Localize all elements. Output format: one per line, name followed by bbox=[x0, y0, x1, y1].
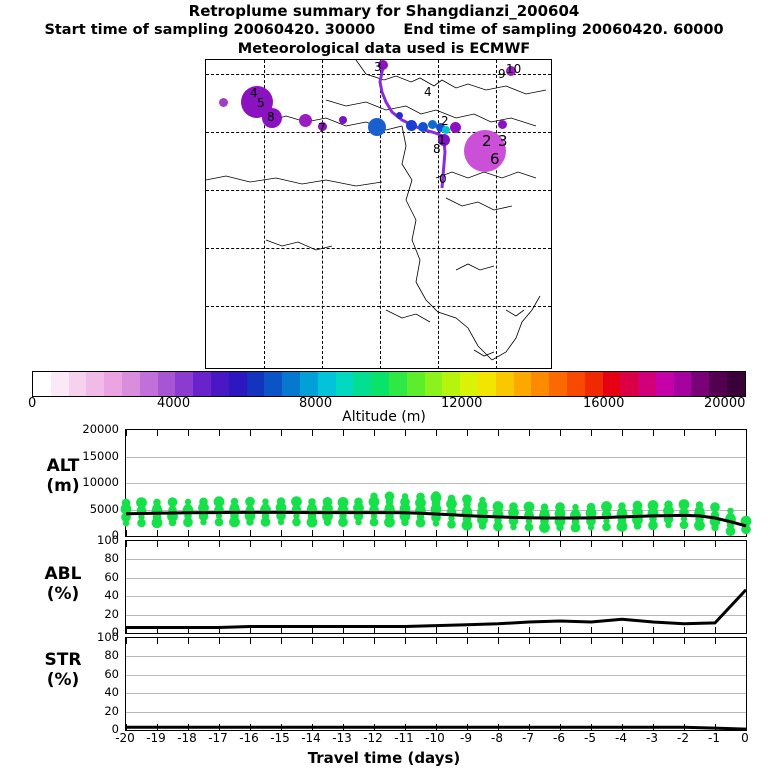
plume-cluster bbox=[219, 98, 228, 107]
plume-cluster bbox=[396, 112, 403, 119]
colorbar-swatch bbox=[442, 372, 460, 396]
cluster-label: 5 bbox=[257, 96, 265, 110]
alt-cluster-marker bbox=[526, 510, 532, 516]
colorbar-swatch bbox=[656, 372, 674, 396]
y-tick-label: 10000 bbox=[79, 475, 119, 489]
cluster-label: 6 bbox=[490, 150, 500, 168]
x-tick-label: -12 bbox=[358, 731, 388, 745]
plume-cluster bbox=[339, 116, 347, 124]
str-label: STR bbox=[45, 650, 82, 670]
series-overlay bbox=[126, 430, 746, 536]
y-tick-label: 40 bbox=[79, 685, 119, 699]
cluster-label: 3 bbox=[374, 60, 382, 74]
alt-cluster-marker bbox=[308, 498, 316, 506]
abl-unit-label: (%) bbox=[47, 584, 80, 604]
plume-cluster bbox=[450, 122, 461, 133]
colorbar-swatch bbox=[33, 372, 51, 396]
x-tick bbox=[746, 430, 747, 436]
x-tick bbox=[746, 724, 747, 730]
alt-cluster-marker bbox=[262, 498, 268, 504]
alt-cluster-marker bbox=[493, 501, 504, 512]
plume-cluster bbox=[418, 122, 428, 132]
y-tick-label: 100 bbox=[79, 630, 119, 644]
abl-plot bbox=[125, 540, 747, 634]
cluster-label: 4 bbox=[424, 85, 432, 99]
x-tick bbox=[746, 638, 747, 644]
alt-cluster-marker bbox=[229, 505, 240, 516]
plume-cluster bbox=[368, 118, 386, 136]
colorbar-swatch bbox=[86, 372, 104, 396]
colorbar-swatch bbox=[567, 372, 585, 396]
alt-cluster-marker bbox=[185, 499, 191, 505]
alt-cluster-marker bbox=[572, 504, 578, 510]
x-tick-label: -4 bbox=[606, 731, 636, 745]
colorbar-swatch bbox=[336, 372, 354, 396]
alt-cluster-marker bbox=[633, 502, 642, 511]
str-line bbox=[126, 727, 746, 729]
colorbar-swatch bbox=[122, 372, 140, 396]
cluster-label: 2 bbox=[482, 132, 492, 150]
cluster-label: 8 bbox=[433, 142, 441, 156]
colorbar-swatch bbox=[549, 372, 567, 396]
cluster-label: 0 bbox=[439, 172, 447, 186]
cluster-label: 7 bbox=[318, 121, 326, 135]
page-title: Retroplume summary for Shangdianzi_20060… bbox=[0, 2, 768, 21]
alt-cluster-marker bbox=[416, 492, 425, 501]
colorbar-swatch bbox=[638, 372, 656, 396]
alt-cluster-marker bbox=[168, 497, 178, 507]
alt-cluster-marker bbox=[152, 506, 163, 517]
y-tick-label: 20000 bbox=[79, 422, 119, 436]
colorbar-swatch bbox=[585, 372, 603, 396]
alt-cluster-marker bbox=[385, 491, 395, 501]
alt-cluster-marker bbox=[307, 505, 318, 516]
x-tick-label: -9 bbox=[451, 731, 481, 745]
alt-cluster-marker bbox=[648, 500, 659, 511]
colorbar-swatch bbox=[193, 372, 211, 396]
colorbar-swatch bbox=[282, 372, 300, 396]
alt-cluster-marker bbox=[619, 503, 625, 509]
alt-cluster-marker bbox=[262, 504, 270, 512]
alt-cluster-marker bbox=[727, 508, 733, 514]
alt-cluster-marker bbox=[122, 499, 131, 508]
alt-cluster-marker bbox=[479, 497, 485, 503]
x-tick-label: -19 bbox=[141, 731, 171, 745]
alt-plot bbox=[125, 429, 747, 537]
colorbar-swatch bbox=[264, 372, 282, 396]
y-tick-label: 5000 bbox=[79, 502, 119, 516]
colorbar-swatch bbox=[353, 372, 371, 396]
x-axis-title: Travel time (days) bbox=[0, 749, 768, 767]
abl-line bbox=[126, 590, 746, 628]
y-tick-label: 80 bbox=[79, 648, 119, 662]
alt-cluster-marker bbox=[510, 503, 518, 511]
y-tick-label: 40 bbox=[79, 588, 119, 602]
alt-cluster-marker bbox=[710, 502, 720, 512]
colorbar-swatch bbox=[674, 372, 692, 396]
y-tick-label: 20 bbox=[79, 607, 119, 621]
alt-cluster-marker bbox=[370, 493, 378, 501]
alt-unit-label: (m) bbox=[46, 476, 79, 496]
colorbar-swatch bbox=[140, 372, 158, 396]
colorbar-swatch bbox=[300, 372, 318, 396]
y-tick-label: 80 bbox=[79, 551, 119, 565]
x-tick-label: -2 bbox=[668, 731, 698, 745]
x-tick-label: -15 bbox=[265, 731, 295, 745]
abl-label: ABL bbox=[45, 564, 82, 584]
alt-cluster-marker bbox=[136, 497, 147, 508]
colorbar-swatch bbox=[229, 372, 247, 396]
x-tick-label: -14 bbox=[296, 731, 326, 745]
colorbar-swatch bbox=[318, 372, 336, 396]
colorbar-swatch bbox=[371, 372, 389, 396]
colorbar-swatch bbox=[158, 372, 176, 396]
colorbar-swatch bbox=[727, 372, 745, 396]
str-plot bbox=[125, 637, 747, 731]
x-tick bbox=[746, 541, 747, 547]
colorbar-swatch bbox=[478, 372, 496, 396]
x-tick-label: -10 bbox=[420, 731, 450, 745]
met-data-label: Meteorological data used is ECMWF bbox=[0, 40, 768, 59]
x-tick-label: -6 bbox=[544, 731, 574, 745]
x-tick-label: -18 bbox=[172, 731, 202, 745]
alt-cluster-marker bbox=[448, 495, 456, 503]
alt-cluster-marker bbox=[462, 494, 472, 504]
colorbar-swatch bbox=[389, 372, 407, 396]
y-tick-label: 20 bbox=[79, 704, 119, 718]
alt-cluster-marker bbox=[665, 502, 673, 510]
alt-cluster-marker bbox=[184, 505, 192, 513]
colorbar-swatch bbox=[211, 372, 229, 396]
colorbar-swatch bbox=[709, 372, 727, 396]
alt-cluster-marker bbox=[432, 491, 441, 500]
cluster-label: 8 bbox=[267, 110, 275, 124]
retroplume-map: 4 5 8 7 3 4 2 9 10 1 2 3 6 8 0 bbox=[205, 59, 552, 369]
cluster-label: 9 bbox=[498, 67, 506, 81]
colorbar-swatch bbox=[620, 372, 638, 396]
colorbar-swatch bbox=[425, 372, 443, 396]
x-tick-label: -11 bbox=[389, 731, 419, 745]
cluster-label: 3 bbox=[498, 132, 508, 150]
x-tick-label: -1 bbox=[699, 731, 729, 745]
str-unit-label: (%) bbox=[47, 670, 80, 690]
colorbar-swatch bbox=[407, 372, 425, 396]
colorbar-swatch bbox=[460, 372, 478, 396]
colorbar-swatch bbox=[104, 372, 122, 396]
alt-cluster-marker bbox=[338, 497, 349, 508]
y-tick-label: 0 bbox=[79, 722, 119, 736]
alt-label: ALT bbox=[47, 456, 80, 476]
plume-cluster bbox=[406, 120, 417, 131]
colorbar-swatch bbox=[69, 372, 87, 396]
alt-cluster-marker bbox=[402, 493, 408, 499]
colorbar-swatch bbox=[691, 372, 709, 396]
alt-cluster-marker bbox=[199, 498, 208, 507]
y-tick-label: 60 bbox=[79, 570, 119, 584]
x-tick-label: -17 bbox=[203, 731, 233, 745]
alt-cluster-marker bbox=[603, 510, 609, 516]
alt-cluster-marker bbox=[216, 505, 222, 511]
alt-cluster-marker bbox=[355, 499, 363, 507]
x-tick-label: -7 bbox=[513, 731, 543, 745]
series-overlay bbox=[126, 638, 746, 730]
cluster-label: 10 bbox=[506, 62, 521, 76]
alt-cluster-marker bbox=[291, 496, 302, 507]
colorbar-swatch bbox=[514, 372, 532, 396]
colorbar-swatch bbox=[51, 372, 69, 396]
x-tick-label: -5 bbox=[575, 731, 605, 745]
x-tick bbox=[746, 627, 747, 633]
alt-cluster-marker bbox=[153, 499, 161, 507]
sampling-times: Start time of sampling 20060420. 30000 E… bbox=[0, 21, 768, 40]
x-tick-label: -3 bbox=[637, 731, 667, 745]
x-tick-label: -8 bbox=[482, 731, 512, 745]
alt-cluster-marker bbox=[679, 500, 689, 510]
y-tick-label: 100 bbox=[79, 533, 119, 547]
chart-header: Retroplume summary for Shangdianzi_20060… bbox=[0, 2, 768, 59]
colorbar-swatch bbox=[496, 372, 514, 396]
colorbar-swatch bbox=[175, 372, 193, 396]
y-tick-label: 60 bbox=[79, 667, 119, 681]
x-tick-label: -16 bbox=[234, 731, 264, 745]
cluster-label: 2 bbox=[441, 114, 449, 128]
alt-cluster-marker bbox=[231, 498, 239, 506]
altitude-colorbar bbox=[32, 371, 746, 397]
alt-cluster-marker bbox=[245, 497, 255, 507]
colorbar-swatch bbox=[531, 372, 549, 396]
series-overlay bbox=[126, 541, 746, 633]
colorbar-swatch bbox=[247, 372, 265, 396]
plume-cluster bbox=[498, 120, 507, 129]
colorbar-swatch bbox=[603, 372, 621, 396]
x-tick-label: -13 bbox=[327, 731, 357, 745]
plume-cluster bbox=[299, 114, 312, 127]
end-time-label: End time of sampling 20060420. 60000 bbox=[403, 22, 723, 38]
start-time-label: Start time of sampling 20060420. 30000 bbox=[44, 22, 375, 38]
y-tick-label: 15000 bbox=[79, 449, 119, 463]
x-tick-label: 0 bbox=[730, 731, 760, 745]
alt-cluster-marker bbox=[572, 510, 580, 518]
